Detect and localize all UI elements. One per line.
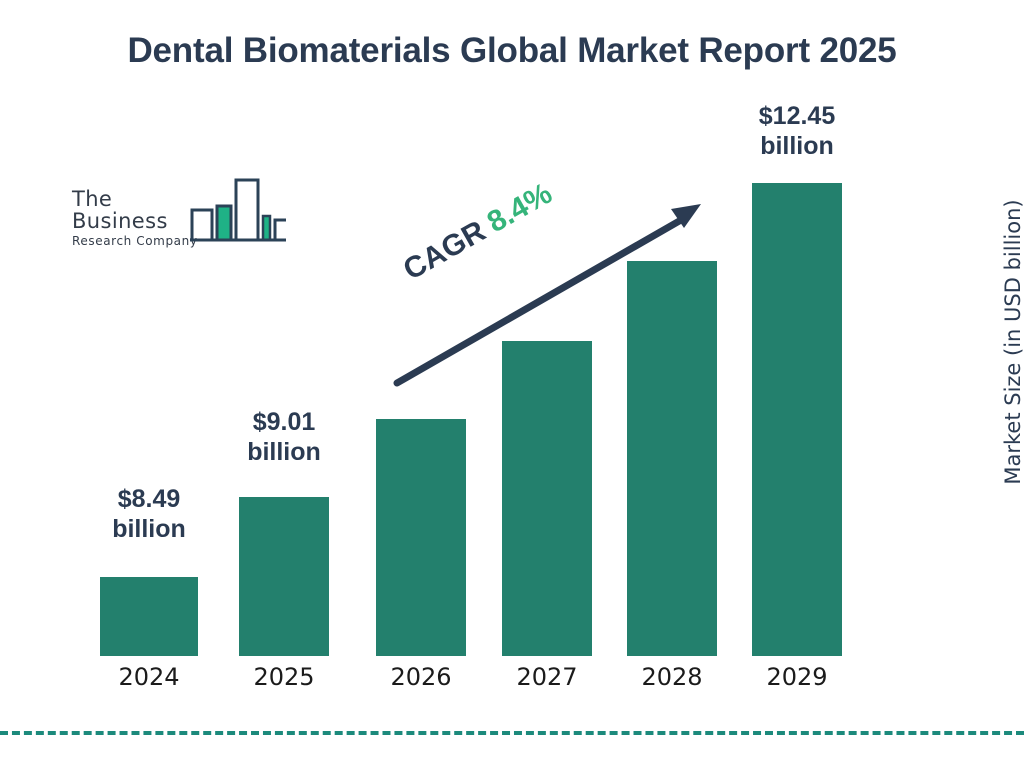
chart-canvas: Dental Biomaterials Global Market Report… <box>0 0 1024 768</box>
footer-divider <box>0 731 1024 735</box>
bar-chart-plot: $8.49 billion $9.01 billion $12.45 billi… <box>0 0 1024 768</box>
x-tick-2025: 2025 <box>214 663 354 691</box>
y-axis-title: Market Size (in USD billion) <box>1001 182 1024 502</box>
x-tick-2027: 2027 <box>477 663 617 691</box>
x-tick-2024: 2024 <box>79 663 219 691</box>
x-tick-2029: 2029 <box>727 663 867 691</box>
x-tick-2026: 2026 <box>351 663 491 691</box>
growth-arrow <box>0 0 1024 768</box>
x-tick-2028: 2028 <box>602 663 742 691</box>
